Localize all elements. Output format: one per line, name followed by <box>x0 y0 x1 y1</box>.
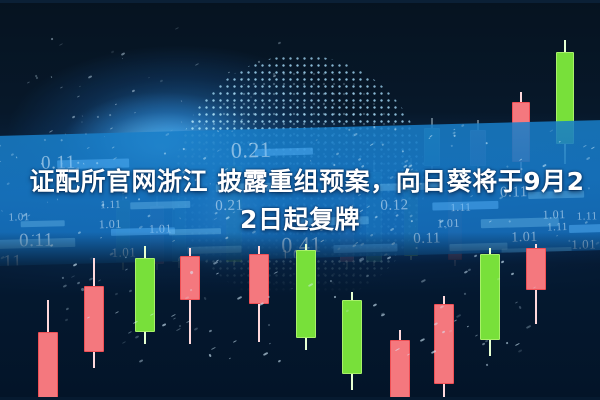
particle <box>448 330 452 333</box>
particle <box>170 129 173 131</box>
particle <box>506 342 509 345</box>
particle <box>466 326 468 328</box>
particle <box>77 281 81 284</box>
particle <box>482 343 486 346</box>
particle <box>162 323 166 326</box>
particle <box>237 296 242 300</box>
particle <box>485 339 489 342</box>
particle <box>525 325 530 329</box>
particle <box>51 38 54 41</box>
particle <box>442 330 446 333</box>
particle <box>209 354 212 357</box>
particle <box>139 359 144 362</box>
particle <box>59 43 63 46</box>
particle <box>115 103 117 105</box>
particle <box>420 338 425 342</box>
particle <box>204 297 207 300</box>
particle <box>73 263 77 266</box>
news-banner-image: 0.111.011.111.010.111.010.111.010.210.21… <box>0 0 600 400</box>
particle <box>464 292 466 294</box>
particle <box>291 288 294 290</box>
particle <box>407 353 410 356</box>
particle <box>308 283 313 287</box>
particle <box>85 133 87 136</box>
particle <box>114 292 118 295</box>
particle <box>475 334 478 337</box>
top-edge-line <box>0 0 600 3</box>
particle <box>125 269 128 272</box>
particle <box>103 135 105 137</box>
particle <box>274 271 278 274</box>
particle <box>533 286 536 289</box>
particle <box>89 277 94 281</box>
particle <box>76 95 79 98</box>
particle <box>174 27 178 30</box>
particle <box>111 50 114 53</box>
particle <box>51 76 53 78</box>
particle <box>255 113 257 115</box>
particle <box>421 279 426 283</box>
particle <box>518 349 522 352</box>
particle <box>36 76 38 79</box>
particle <box>186 320 191 323</box>
particle <box>128 331 132 334</box>
particle <box>268 324 271 327</box>
particle <box>176 327 181 331</box>
particle <box>110 128 113 130</box>
particle <box>373 303 378 307</box>
particle <box>121 52 125 56</box>
particle <box>229 358 231 360</box>
particle <box>81 120 84 123</box>
particle <box>515 301 518 304</box>
particle <box>501 261 504 264</box>
particle <box>273 74 277 77</box>
particle <box>133 321 138 324</box>
particle <box>395 347 400 350</box>
headline-line-2: 2日起复牌 <box>0 201 600 239</box>
particle <box>277 41 281 44</box>
particle <box>159 80 163 83</box>
particle <box>233 341 237 344</box>
particle <box>194 124 198 127</box>
particle <box>453 319 457 322</box>
particle <box>433 323 437 327</box>
particle <box>515 343 520 346</box>
particle <box>63 285 68 289</box>
particle <box>269 343 272 345</box>
particle <box>81 287 85 291</box>
particle <box>440 305 444 309</box>
particle <box>211 347 216 350</box>
headline-line-1: 证配所官网浙江 披露重组预案，向日葵将于9月2 <box>0 163 600 201</box>
particle <box>511 272 514 275</box>
particle <box>109 114 112 117</box>
particle <box>190 289 193 292</box>
particle <box>134 335 139 339</box>
particle <box>147 76 150 78</box>
particle <box>180 100 182 103</box>
particle <box>122 58 124 60</box>
particle <box>71 275 75 278</box>
particle <box>66 308 69 311</box>
particle <box>121 341 125 344</box>
particle <box>358 257 364 262</box>
particle <box>257 61 259 63</box>
particle <box>60 87 63 89</box>
particle <box>474 255 477 258</box>
particle <box>184 296 188 299</box>
particle <box>241 77 245 80</box>
particle <box>387 257 391 260</box>
particle <box>173 317 176 320</box>
particle <box>278 360 282 364</box>
particle <box>216 272 219 275</box>
particle <box>263 352 268 356</box>
particle <box>61 276 63 279</box>
particle <box>178 324 181 327</box>
particle <box>150 313 154 316</box>
particle <box>195 63 199 66</box>
particle <box>129 289 133 292</box>
particle <box>96 116 98 119</box>
particle <box>132 89 135 92</box>
particle <box>115 311 119 314</box>
particle <box>334 296 337 299</box>
particle <box>44 139 47 142</box>
particle <box>249 95 252 98</box>
particle <box>88 75 92 78</box>
particle <box>65 133 67 135</box>
particle <box>213 261 218 265</box>
particle <box>497 278 500 281</box>
particle <box>240 121 244 124</box>
particle <box>180 121 182 123</box>
particle <box>208 329 212 332</box>
particle <box>79 86 81 88</box>
headline: 证配所官网浙江 披露重组预案，向日葵将于9月2 2日起复牌 <box>0 163 600 239</box>
particle <box>48 130 52 133</box>
particle <box>365 275 369 278</box>
particle <box>125 257 127 259</box>
particle <box>72 116 76 119</box>
particle <box>64 319 67 322</box>
particle <box>228 72 230 74</box>
particle <box>486 364 488 366</box>
particle <box>241 118 243 120</box>
particle <box>519 306 522 309</box>
particle <box>346 310 349 313</box>
particle <box>431 350 436 354</box>
particle <box>456 314 461 318</box>
particle <box>259 302 265 307</box>
particle <box>267 296 270 299</box>
particle <box>330 280 333 283</box>
particle <box>82 115 84 118</box>
particle <box>87 316 90 319</box>
particle <box>189 270 193 274</box>
particle <box>98 279 101 281</box>
particle <box>194 327 199 331</box>
particle <box>134 111 137 113</box>
particle <box>467 269 470 272</box>
particle <box>26 82 29 85</box>
particle <box>192 120 195 122</box>
